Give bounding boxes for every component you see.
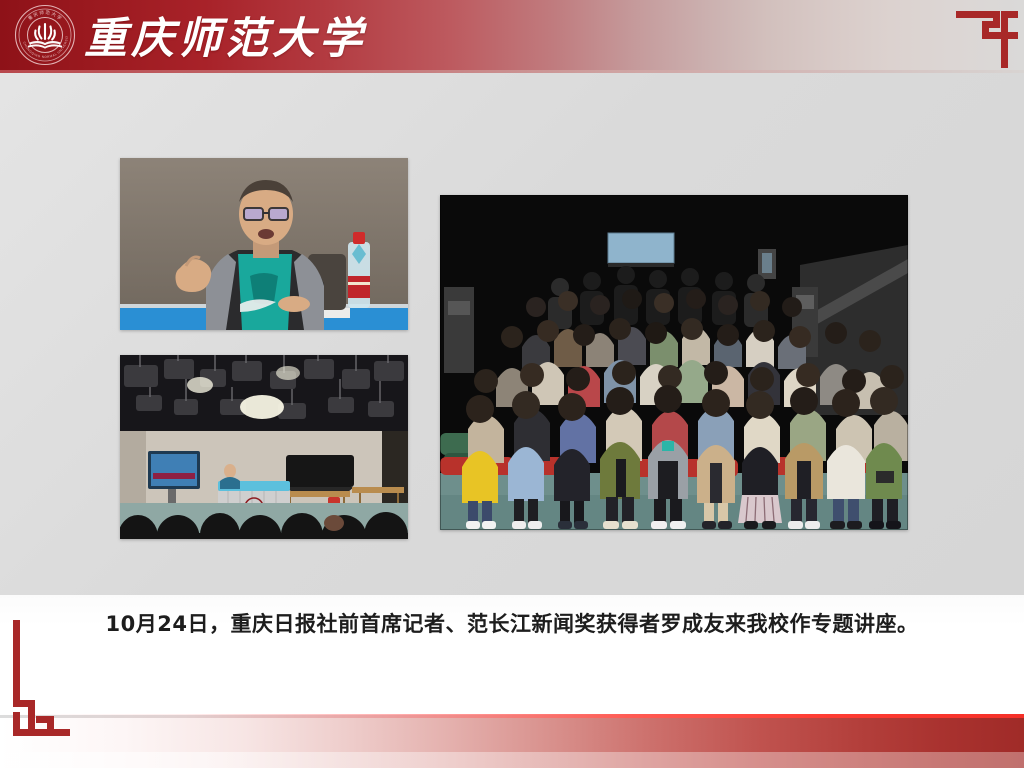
speaker-portrait-photo[interactable] [120,158,408,330]
slide-header-banner: 重庆师范大学 CHONGQING NORMAL UNIVERSITY [0,0,1024,70]
university-logo-icon: 重庆师范大学 CHONGQING NORMAL UNIVERSITY [14,4,76,66]
top-right-fret-ornament-icon [956,6,1018,68]
group-photo[interactable] [440,195,908,530]
footer-bottom-fade [0,752,1024,768]
bottom-left-fret-ornament-icon [8,620,70,740]
presentation-slide: 重庆师范大学 CHONGQING NORMAL UNIVERSITY [0,0,1024,768]
studio-lecture-photo[interactable] [120,355,408,539]
svg-text:重庆师范大学: 重庆师范大学 [26,9,64,22]
university-name-title: 重庆师范大学 [84,2,366,68]
header-underline-divider [0,70,1024,73]
slide-caption-text: 10月24日，重庆日报社前首席记者、范长江新闻奖获得者罗成友来我校作专题讲座。 [0,608,1024,638]
